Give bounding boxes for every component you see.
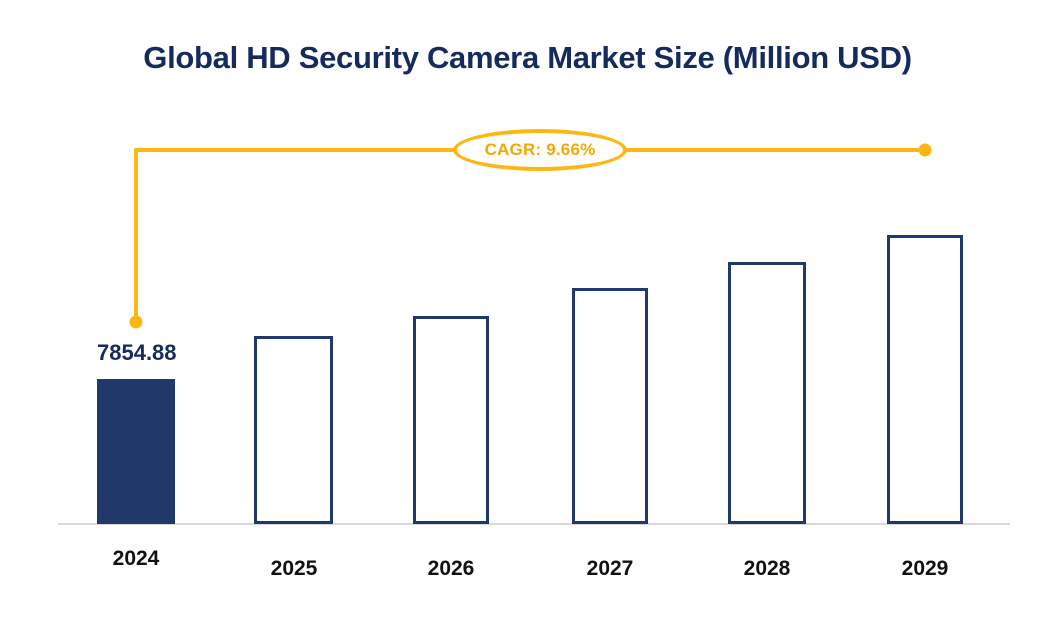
- bar-2028[interactable]: [728, 262, 806, 524]
- x-axis-line: [58, 523, 1010, 525]
- bar-2027[interactable]: [572, 288, 648, 524]
- bar-2025[interactable]: [254, 336, 333, 524]
- plot-area: 7854.88 2024 2025 2026 2027 2028 2029: [0, 0, 1055, 623]
- x-tick-label-2026: 2026: [401, 557, 501, 581]
- x-tick-label-2028: 2028: [717, 557, 817, 581]
- bar-2029[interactable]: [887, 235, 963, 524]
- x-tick-label-2025: 2025: [244, 557, 344, 581]
- bar-2026[interactable]: [413, 316, 489, 524]
- x-tick-label-2027: 2027: [560, 557, 660, 581]
- bar-value-label-2024: 7854.88: [97, 340, 217, 366]
- x-tick-label-2024: 2024: [86, 547, 186, 571]
- chart-figure: Global HD Security Camera Market Size (M…: [0, 0, 1055, 623]
- bar-2024[interactable]: [97, 379, 175, 524]
- x-tick-label-2029: 2029: [875, 557, 975, 581]
